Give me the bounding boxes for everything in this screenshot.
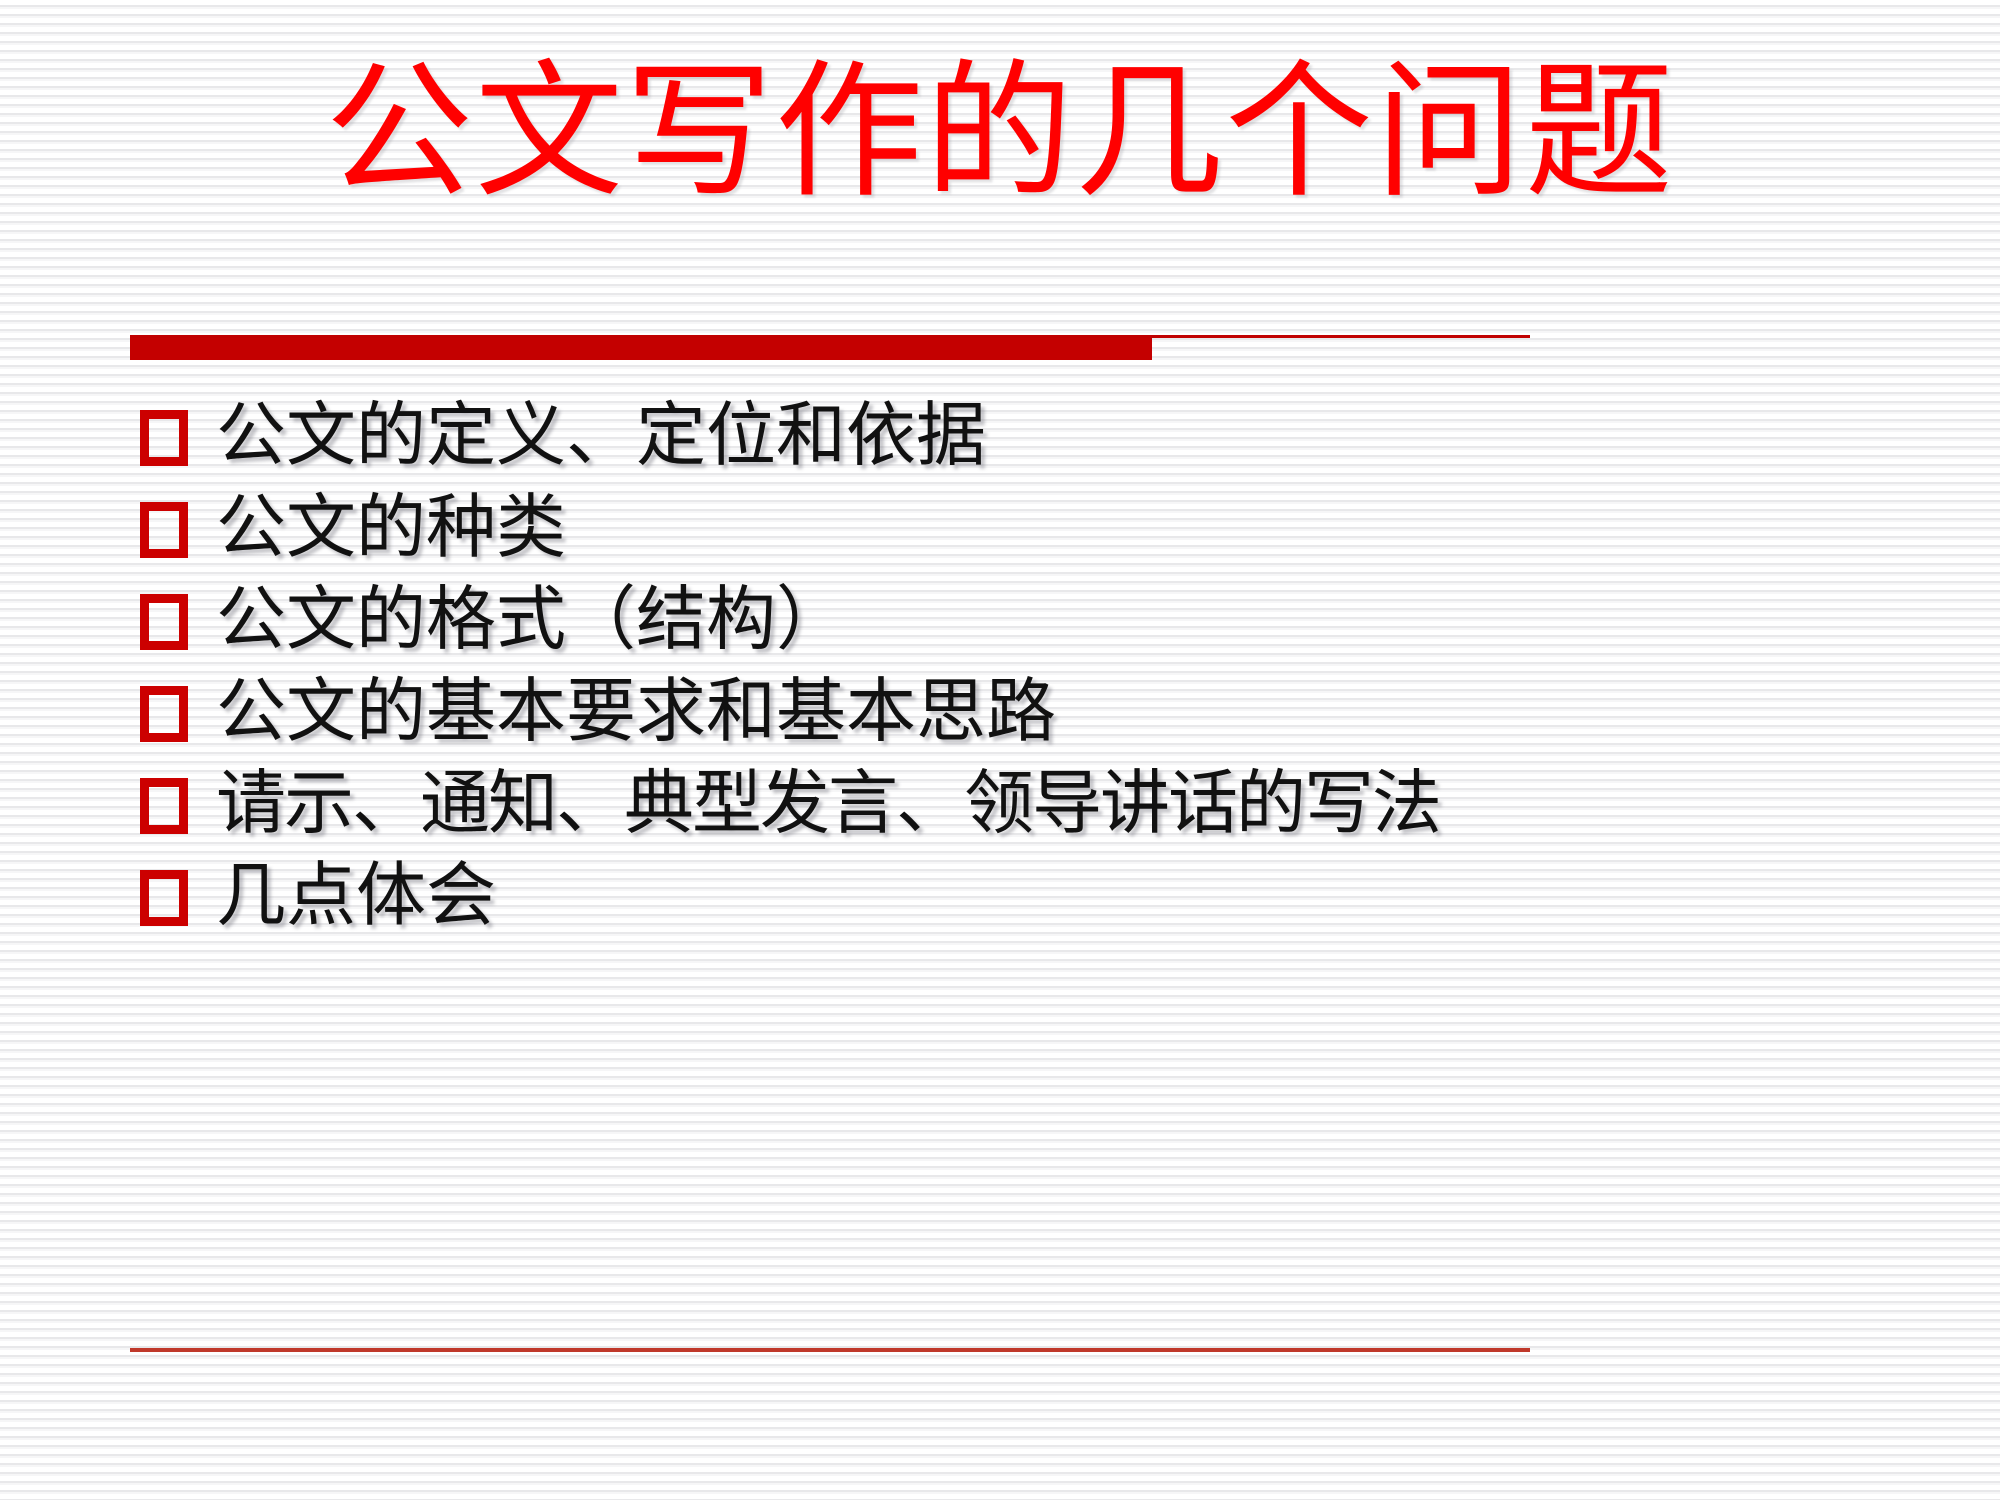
- square-bullet-icon: [140, 594, 188, 650]
- footer-rule: [130, 1348, 1530, 1352]
- square-bullet-icon: [140, 410, 188, 466]
- list-item[interactable]: 公文的基本要求和基本思路: [140, 666, 1940, 758]
- title-underline-thick: [130, 338, 1152, 360]
- list-item[interactable]: 请示、通知、典型发言、领导讲话的写法: [140, 758, 1940, 850]
- list-item-label: 公文的格式（结构）: [216, 574, 1940, 664]
- list-item[interactable]: 几点体会: [140, 850, 1940, 942]
- list-item[interactable]: 公文的定义、定位和依据: [140, 390, 1940, 482]
- list-item-label: 几点体会: [216, 850, 1940, 940]
- list-item-label: 请示、通知、典型发言、领导讲话的写法: [216, 758, 1940, 848]
- list-item[interactable]: 公文的种类: [140, 482, 1940, 574]
- title-block: 公文写作的几个问题: [0, 58, 2000, 206]
- agenda-list: 公文的定义、定位和依据 公文的种类 公文的格式（结构） 公文的基本要求和基本思路…: [140, 390, 1940, 942]
- list-item[interactable]: 公文的格式（结构）: [140, 574, 1940, 666]
- list-item-label: 公文的定义、定位和依据: [216, 390, 1940, 480]
- square-bullet-icon: [140, 778, 188, 834]
- list-item-label: 公文的基本要求和基本思路: [216, 666, 1940, 756]
- square-bullet-icon: [140, 502, 188, 558]
- square-bullet-icon: [140, 686, 188, 742]
- page-title: 公文写作的几个问题: [325, 58, 1675, 206]
- square-bullet-icon: [140, 870, 188, 926]
- list-item-label: 公文的种类: [216, 482, 1940, 572]
- presentation-slide: 公文写作的几个问题 公文的定义、定位和依据 公文的种类 公文的格式（结构） 公文…: [0, 0, 2000, 1500]
